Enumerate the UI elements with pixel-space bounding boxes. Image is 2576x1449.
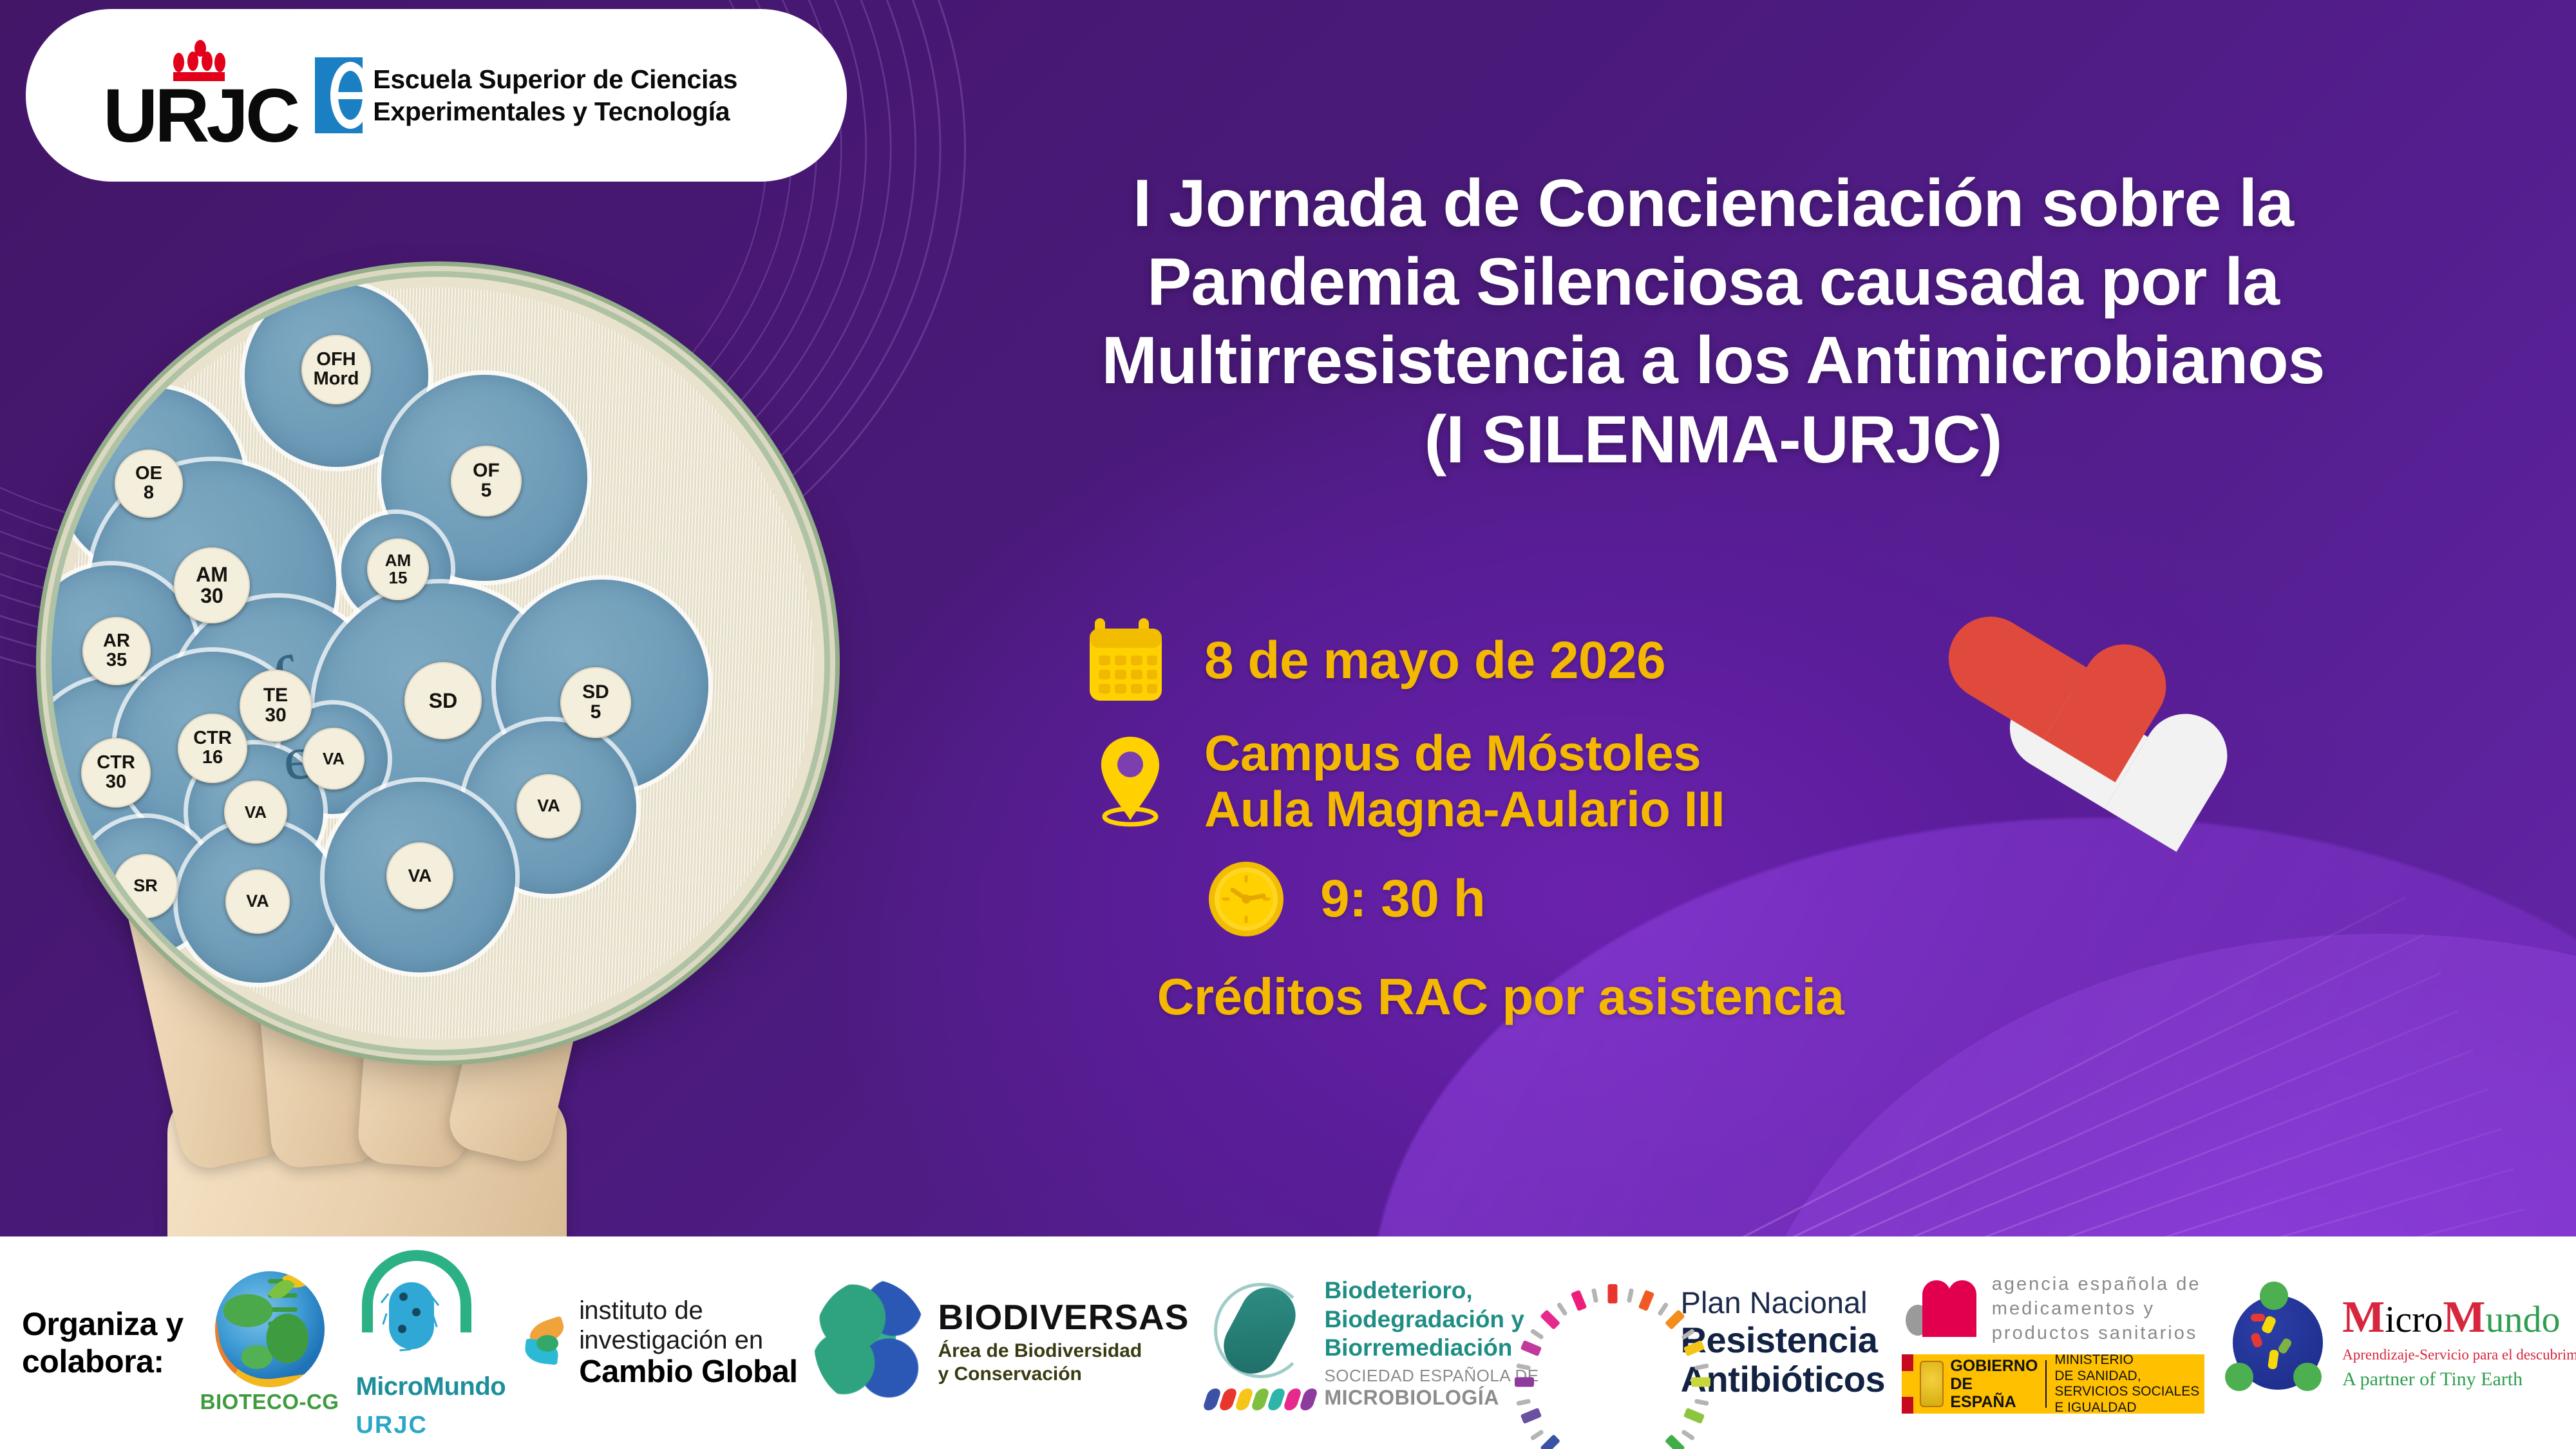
disk-dose: 30 bbox=[106, 773, 126, 792]
coat-of-arms-icon bbox=[1920, 1361, 1944, 1407]
agar-plate: ƒ єѕ OFHMordOE8OF5AM30AM15AR35TE30SDSD5C… bbox=[52, 277, 824, 1050]
icg-line-2: nvestigación en bbox=[584, 1326, 763, 1354]
sem-rod-icon bbox=[1209, 1275, 1312, 1385]
detail-credits-row: Créditos RAC por asistencia bbox=[1082, 968, 1919, 1026]
biodiversas-blob-icon bbox=[814, 1280, 927, 1406]
calendar-icon bbox=[1082, 618, 1179, 703]
sem-line-4: SOCIEDAD ESPAÑOLA DE bbox=[1324, 1366, 1539, 1386]
disk-dose: 15 bbox=[389, 569, 408, 587]
school-line-2: Experimentales y Tecnología bbox=[373, 95, 737, 128]
disk-label: SR bbox=[133, 877, 158, 895]
aemps-m-icon bbox=[1906, 1280, 1983, 1337]
urjc-acronym: URJC bbox=[103, 81, 297, 151]
antibiotic-disk: CTR30 bbox=[81, 738, 151, 808]
event-venue: Campus de Móstoles Aula Magna-Aulario II… bbox=[1204, 725, 1725, 838]
bioteco-globe-icon bbox=[215, 1271, 325, 1387]
tinyearth-m1: M bbox=[2342, 1293, 2385, 1342]
event-details: 8 de mayo de 2026 Campus de Móstoles Aul… bbox=[1082, 618, 1919, 1025]
disk-label: OFH bbox=[316, 350, 355, 370]
sponsor-bar: Organiza y colabora: BIOTECO-CG bbox=[0, 1236, 2576, 1449]
antibiotic-disk: VA bbox=[303, 728, 365, 790]
sem-line-1: Biodeterioro, bbox=[1324, 1276, 1539, 1305]
tinyearth-t2: undo bbox=[2485, 1298, 2560, 1340]
event-poster: URJC Escuela Superior de Ciencias Experi… bbox=[0, 0, 2576, 1449]
aemps-line-1: agencia española de bbox=[1992, 1272, 2201, 1296]
esct-e-icon bbox=[315, 57, 363, 133]
disk-label: OE bbox=[135, 464, 162, 484]
hearts-graphic bbox=[1951, 612, 2222, 857]
disk-label: SD bbox=[582, 683, 609, 703]
antibiotic-disk: AM30 bbox=[174, 547, 250, 623]
venue-line-1: Campus de Móstoles bbox=[1204, 725, 1725, 781]
sponsor-bioteco-cg[interactable]: BIOTECO-CG bbox=[200, 1271, 339, 1414]
disk-label: VA bbox=[246, 893, 269, 911]
tinyearth-m2: M bbox=[2443, 1293, 2485, 1342]
disk-label: CTR bbox=[97, 753, 135, 773]
organizer-label-line-2: colabora: bbox=[22, 1343, 184, 1380]
event-date: 8 de mayo de 2026 bbox=[1204, 631, 1665, 690]
gob-line-2: DE ESPAÑA bbox=[1950, 1375, 2038, 1411]
school-line-1: Escuela Superior de Ciencias bbox=[373, 63, 737, 95]
disk-label: AR bbox=[103, 632, 130, 651]
disk-dose: 30 bbox=[265, 706, 286, 726]
sem-line-3: Biorremediación bbox=[1324, 1334, 1539, 1362]
antibiotic-disk: OF5 bbox=[451, 446, 522, 516]
pran-line-2: Resistencia bbox=[1681, 1320, 1886, 1360]
disk-dose: 16 bbox=[202, 748, 223, 768]
antibiotic-disk: TE30 bbox=[240, 670, 312, 742]
sem-color-dots bbox=[1206, 1388, 1315, 1410]
title-line-2: Pandemia Silenciosa causada por la bbox=[902, 243, 2524, 321]
pran-ring-icon bbox=[1556, 1282, 1669, 1404]
detail-date-row: 8 de mayo de 2026 bbox=[1082, 618, 1919, 703]
clock-icon bbox=[1198, 860, 1294, 938]
sponsor-micromundo-urjc[interactable]: MicroMundo URJC bbox=[355, 1246, 506, 1439]
sponsor-aemps[interactable]: agencia española de medicamentos y produ… bbox=[1902, 1272, 2204, 1414]
disk-label: VA bbox=[408, 867, 432, 885]
pran-line-1: Plan Nacional bbox=[1681, 1286, 1886, 1320]
antibiotic-disk: VA bbox=[224, 781, 287, 844]
disk-dose: 5 bbox=[591, 703, 601, 723]
tinyearth-wordmark: MicroMundo bbox=[2342, 1295, 2576, 1340]
sponsor-micromundo-tinyearth[interactable]: MicroMundo Aprendizaje-Servicio para el … bbox=[2221, 1283, 2576, 1403]
biodiversas-sub-2: y Conservación bbox=[938, 1363, 1189, 1386]
urjc-logo-badge: URJC Escuela Superior de Ciencias Experi… bbox=[26, 9, 847, 182]
icg-bird-icon bbox=[522, 1318, 571, 1367]
urjc-mark: URJC bbox=[103, 40, 297, 151]
event-time: 9: 30 h bbox=[1320, 869, 1485, 929]
min-line-2: DE SANIDAD, SERVICIOS SOCIALES bbox=[2054, 1368, 2204, 1401]
antibiotic-disk: SD5 bbox=[560, 667, 631, 738]
antibiotic-disk: SR bbox=[113, 854, 178, 918]
event-credits: Créditos RAC por asistencia bbox=[1082, 968, 1919, 1026]
title-line-4: (I SILENMA-URJC) bbox=[902, 401, 2524, 479]
venue-line-2: Aula Magna-Aulario III bbox=[1204, 781, 1725, 837]
detail-time-row: 9: 30 h bbox=[1198, 860, 1919, 938]
sponsor-icg[interactable]: instituto de investigación en Cambio Glo… bbox=[522, 1296, 797, 1390]
antibiotic-disk: VA bbox=[225, 869, 290, 934]
min-line-3: E IGUALDAD bbox=[2054, 1400, 2204, 1416]
aemps-line-2: medicamentos y bbox=[1992, 1296, 2201, 1321]
disk-dose: 8 bbox=[144, 484, 154, 503]
disk-dose: 5 bbox=[481, 481, 492, 501]
petri-dish-photo: ƒ єѕ OFHMordOE8OF5AM30AM15AR35TE30SDSD5C… bbox=[52, 277, 902, 1243]
disk-dose: Mord bbox=[314, 370, 359, 389]
sponsor-sem-bbb[interactable]: Biodeterioro, Biodegradación y Biorremed… bbox=[1206, 1275, 1539, 1410]
antibiotic-disk: AR35 bbox=[82, 617, 151, 685]
gob-line-1: GOBIERNO bbox=[1950, 1357, 2038, 1375]
disk-label: VA bbox=[537, 797, 560, 815]
aemps-line-3: productos sanitarios bbox=[1992, 1321, 2201, 1345]
disk-dose: 35 bbox=[106, 651, 127, 670]
tinyearth-t1: icro bbox=[2385, 1298, 2443, 1340]
antibiotic-disk: OE8 bbox=[115, 450, 183, 518]
title-line-3: Multirresistencia a los Antimicrobianos bbox=[902, 321, 2524, 400]
map-pin-icon bbox=[1082, 733, 1179, 829]
tinyearth-sub-2: A partner of Tiny Earth bbox=[2342, 1368, 2576, 1390]
antibiotic-disk: AM15 bbox=[367, 538, 429, 600]
disk-label: TE bbox=[263, 686, 288, 706]
disk-label: AM bbox=[196, 564, 228, 585]
icg-line-3: Cambio Global bbox=[579, 1355, 797, 1390]
antibiotic-disk: VA bbox=[386, 842, 453, 909]
antibiotic-disk: OFHMord bbox=[301, 335, 371, 404]
disk-label: VA bbox=[323, 750, 345, 768]
crown-icon bbox=[169, 40, 231, 80]
gobierno-de-espana-badge: GOBIERNO DE ESPAÑA MINISTERIO DE SANIDAD… bbox=[1902, 1354, 2204, 1414]
sponsor-biodiversas[interactable]: BIODIVERSAS Área de Biodiversidad y Cons… bbox=[814, 1280, 1189, 1406]
disk-label: CTR bbox=[193, 729, 232, 748]
sem-line-5: MICROBIOLOGÍA bbox=[1324, 1387, 1539, 1409]
biodiversas-name: BIODIVERSAS bbox=[938, 1300, 1189, 1335]
page-title: I Jornada de Concienciación sobre la Pan… bbox=[902, 164, 2524, 479]
micromundo-name: MicroMundo bbox=[355, 1372, 506, 1401]
organizer-label: Organiza y colabora: bbox=[22, 1305, 184, 1380]
tinyearth-globe-icon bbox=[2221, 1283, 2334, 1403]
title-line-1: I Jornada de Concienciación sobre la bbox=[902, 164, 2524, 243]
antibiotic-disk: CTR16 bbox=[178, 714, 247, 783]
antibiotic-disk: SD bbox=[404, 662, 482, 739]
pran-line-3: Antibióticos bbox=[1681, 1359, 1886, 1399]
disk-label: VA bbox=[245, 804, 267, 821]
min-line-1: MINISTERIO bbox=[2054, 1352, 2204, 1368]
bioteco-name: BIOTECO-CG bbox=[200, 1390, 339, 1414]
micromundo-sub: URJC bbox=[355, 1412, 427, 1439]
disk-label: AM bbox=[385, 552, 411, 569]
tinyearth-sub-1: Aprendizaje-Servicio para el descubrimie… bbox=[2342, 1347, 2576, 1363]
disk-label: SD bbox=[429, 690, 457, 712]
disk-label: OF bbox=[473, 461, 500, 481]
organizer-label-line-1: Organiza y bbox=[22, 1305, 184, 1343]
sem-line-2: Biodegradación y bbox=[1324, 1305, 1539, 1334]
red-heart-icon bbox=[1934, 594, 2129, 790]
micromundo-bacteria-icon bbox=[355, 1246, 478, 1362]
sponsor-pran[interactable]: Plan Nacional Resistencia Antibióticos bbox=[1556, 1282, 1886, 1404]
antibiotic-disk: VA bbox=[516, 774, 581, 838]
disk-dose: 30 bbox=[200, 585, 223, 607]
school-lockup: Escuela Superior de Ciencias Experimenta… bbox=[315, 57, 737, 133]
biodiversas-sub-1: Área de Biodiversidad bbox=[938, 1340, 1189, 1363]
detail-venue-row: Campus de Móstoles Aula Magna-Aulario II… bbox=[1082, 725, 1919, 838]
icg-line-1: nstituto de bbox=[584, 1296, 703, 1325]
